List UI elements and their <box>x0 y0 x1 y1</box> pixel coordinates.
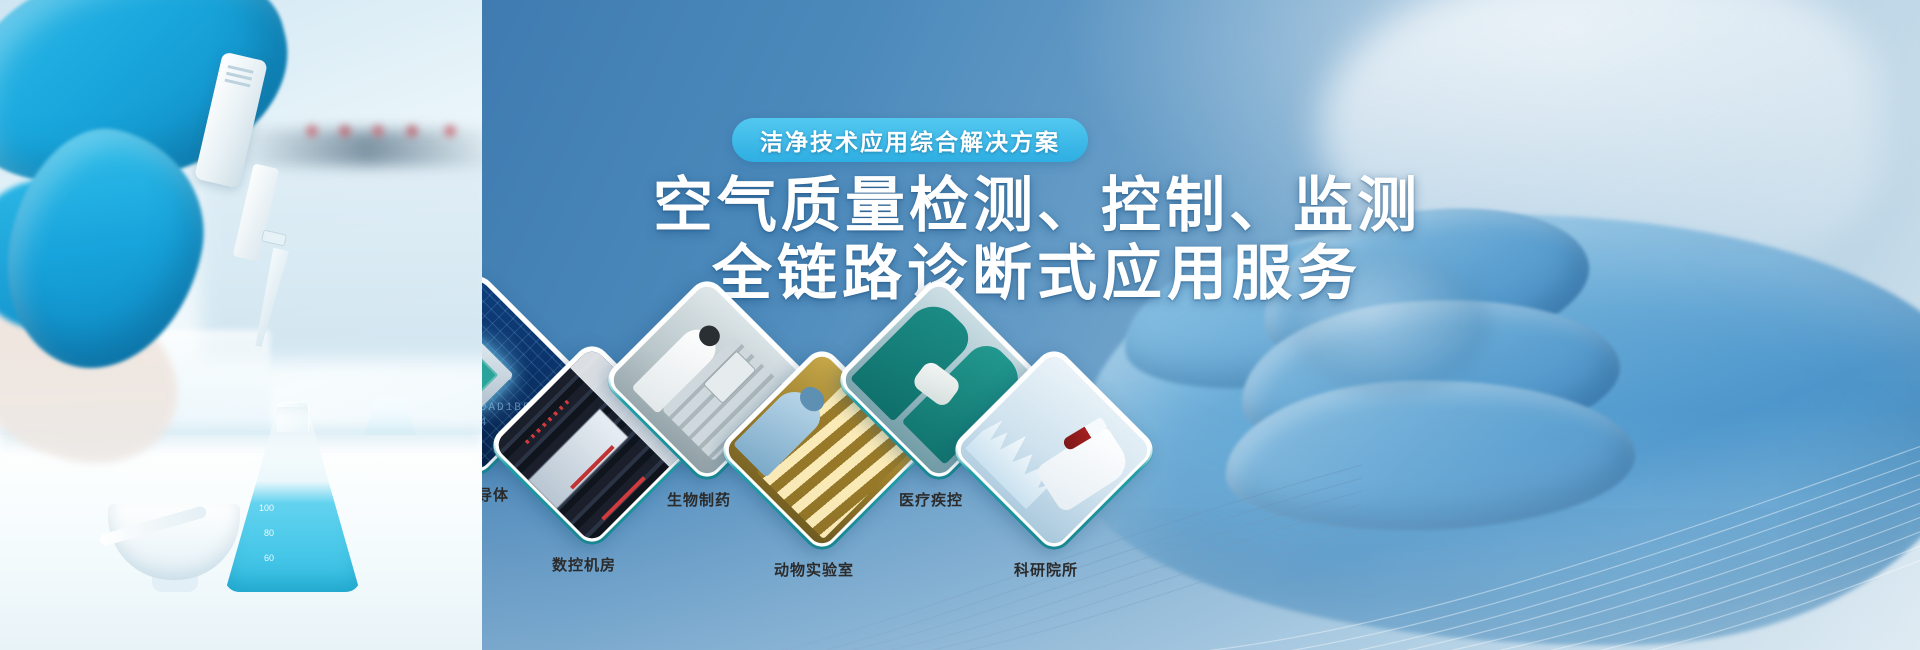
industry-card-label-research: 科研院所 <box>971 559 1121 580</box>
server-status-leds <box>525 399 569 443</box>
right-blue-panel: 洁净技术应用综合解决方案 空气质量检测、控制、监测 全链路诊断式应用服务 CAE… <box>482 0 1920 650</box>
industry-card-label-animal-lab: 动物实验室 <box>739 559 889 580</box>
industry-card-label-medical: 医疗疾控 <box>856 489 1006 510</box>
industry-card-label-biopharma: 生物制药 <box>624 489 774 510</box>
flask-graduation-marks: 100 80 60 <box>244 496 274 572</box>
hero-banner: 100 80 60 <box>0 0 1920 650</box>
flask-mark-80: 80 <box>244 521 274 546</box>
industry-card-row: CAE2 F D59267 8 1 E2C0 E B3 826937 936 9… <box>482 0 1920 650</box>
flask-mark-100: 100 <box>244 496 274 521</box>
red-vials-blur <box>300 120 482 142</box>
industry-card-label-data-center: 数控机房 <box>509 554 659 575</box>
flask-mark-60: 60 <box>244 546 274 571</box>
left-lab-photo: 100 80 60 <box>0 0 482 650</box>
